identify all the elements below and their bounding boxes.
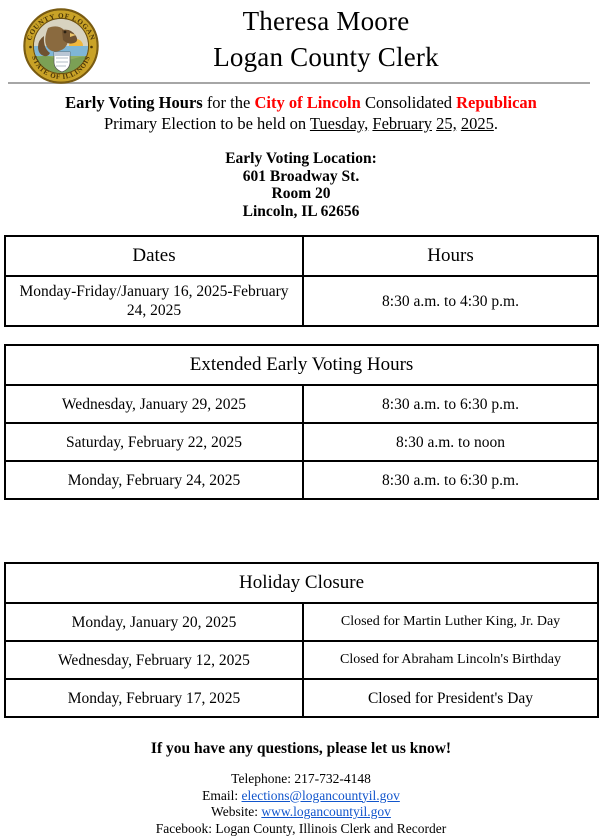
- intro-election-weekday: Tuesday,: [310, 114, 368, 133]
- contact-email: Email: elections@logancountyil.gov: [0, 788, 602, 805]
- cell-holiday-date-1: Monday, January 20, 2025: [5, 603, 303, 641]
- table-row: Monday, February 17, 2025 Closed for Pre…: [5, 679, 598, 717]
- column-header-hours: Hours: [303, 236, 598, 276]
- table-header-row: Dates Hours: [5, 236, 598, 276]
- extended-table-title: Extended Early Voting Hours: [5, 345, 598, 385]
- cell-extended-hours-2: 8:30 a.m. to noon: [303, 423, 598, 461]
- cell-holiday-reason-1: Closed for Martin Luther King, Jr. Day: [303, 603, 598, 641]
- cell-extended-date-2: Saturday, February 22, 2025: [5, 423, 303, 461]
- telephone-value: 217-732-4148: [294, 771, 371, 786]
- column-header-dates: Dates: [5, 236, 303, 276]
- voting-location-block: Early Voting Location: 601 Broadway St. …: [0, 150, 602, 220]
- holiday-closure-table: Holiday Closure Monday, January 20, 2025…: [4, 562, 599, 718]
- intro-text-1: for the: [203, 93, 255, 112]
- cell-holiday-date-3: Monday, February 17, 2025: [5, 679, 303, 717]
- location-room: Room 20: [0, 185, 602, 203]
- telephone-label: Telephone:: [231, 771, 294, 786]
- intro-city-of-lincoln: City of Lincoln: [254, 93, 360, 112]
- facebook-label: Facebook:: [156, 821, 216, 836]
- location-label: Early Voting Location:: [0, 150, 602, 168]
- cell-dates-range: Monday-Friday/January 16, 2025-February …: [5, 276, 303, 326]
- intro-election-year: 2025: [461, 114, 494, 133]
- cell-holiday-date-2: Wednesday, February 12, 2025: [5, 641, 303, 679]
- intro-early-voting-hours: Early Voting Hours: [65, 93, 203, 112]
- table-row: Monday-Friday/January 16, 2025-February …: [5, 276, 598, 326]
- cell-extended-hours-3: 8:30 a.m. to 6:30 p.m.: [303, 461, 598, 499]
- intro-paragraph: Early Voting Hours for the City of Linco…: [42, 92, 560, 134]
- cell-extended-hours-1: 8:30 a.m. to 6:30 p.m.: [303, 385, 598, 423]
- document-header: COUNTY OF LOGAN STATE OF ILLINOIS Theres…: [0, 0, 602, 80]
- cell-extended-date-1: Wednesday, January 29, 2025: [5, 385, 303, 423]
- intro-election-day: 25,: [436, 114, 457, 133]
- cell-extended-date-3: Monday, February 24, 2025: [5, 461, 303, 499]
- table-row: Wednesday, February 12, 2025 Closed for …: [5, 641, 598, 679]
- contact-website: Website: www.logancountyil.gov: [0, 804, 602, 821]
- intro-election-month: February: [372, 114, 432, 133]
- location-city-state-zip: Lincoln, IL 62656: [0, 203, 602, 221]
- intro-text-3: Primary Election to be held on: [104, 114, 310, 133]
- table-row: Monday, January 20, 2025 Closed for Mart…: [5, 603, 598, 641]
- website-label: Website:: [211, 804, 261, 819]
- cell-holiday-reason-3: Closed for President's Day: [303, 679, 598, 717]
- logan-county-seal-icon: COUNTY OF LOGAN STATE OF ILLINOIS: [18, 6, 104, 86]
- email-label: Email:: [202, 788, 241, 803]
- table-row: Monday, February 24, 2025 8:30 a.m. to 6…: [5, 461, 598, 499]
- table-title-row: Holiday Closure: [5, 563, 598, 603]
- clerk-name: Theresa Moore: [60, 4, 592, 39]
- early-voting-dates-table: Dates Hours Monday-Friday/January 16, 20…: [4, 235, 599, 327]
- table-title-row: Extended Early Voting Hours: [5, 345, 598, 385]
- website-link[interactable]: www.logancountyil.gov: [261, 804, 391, 819]
- footer-headline: If you have any questions, please let us…: [0, 740, 602, 758]
- holiday-table-title: Holiday Closure: [5, 563, 598, 603]
- table-row: Saturday, February 22, 2025 8:30 a.m. to…: [5, 423, 598, 461]
- intro-text-2: Consolidated: [361, 93, 456, 112]
- location-street: 601 Broadway St.: [0, 168, 602, 186]
- cell-dates-hours: 8:30 a.m. to 4:30 p.m.: [303, 276, 598, 326]
- intro-republican: Republican: [456, 93, 537, 112]
- cell-holiday-reason-2: Closed for Abraham Lincoln's Birthday: [303, 641, 598, 679]
- intro-period: .: [494, 114, 498, 133]
- email-link[interactable]: elections@logancountyil.gov: [242, 788, 400, 803]
- contact-telephone: Telephone: 217-732-4148: [0, 771, 602, 788]
- extended-early-voting-hours-table: Extended Early Voting Hours Wednesday, J…: [4, 344, 599, 500]
- contact-facebook: Facebook: Logan County, Illinois Clerk a…: [0, 821, 602, 837]
- facebook-value: Logan County, Illinois Clerk and Recorde…: [215, 821, 446, 836]
- page-title: Logan County Clerk: [60, 39, 592, 76]
- table-row: Wednesday, January 29, 2025 8:30 a.m. to…: [5, 385, 598, 423]
- contact-block: Telephone: 217-732-4148 Email: elections…: [0, 771, 602, 837]
